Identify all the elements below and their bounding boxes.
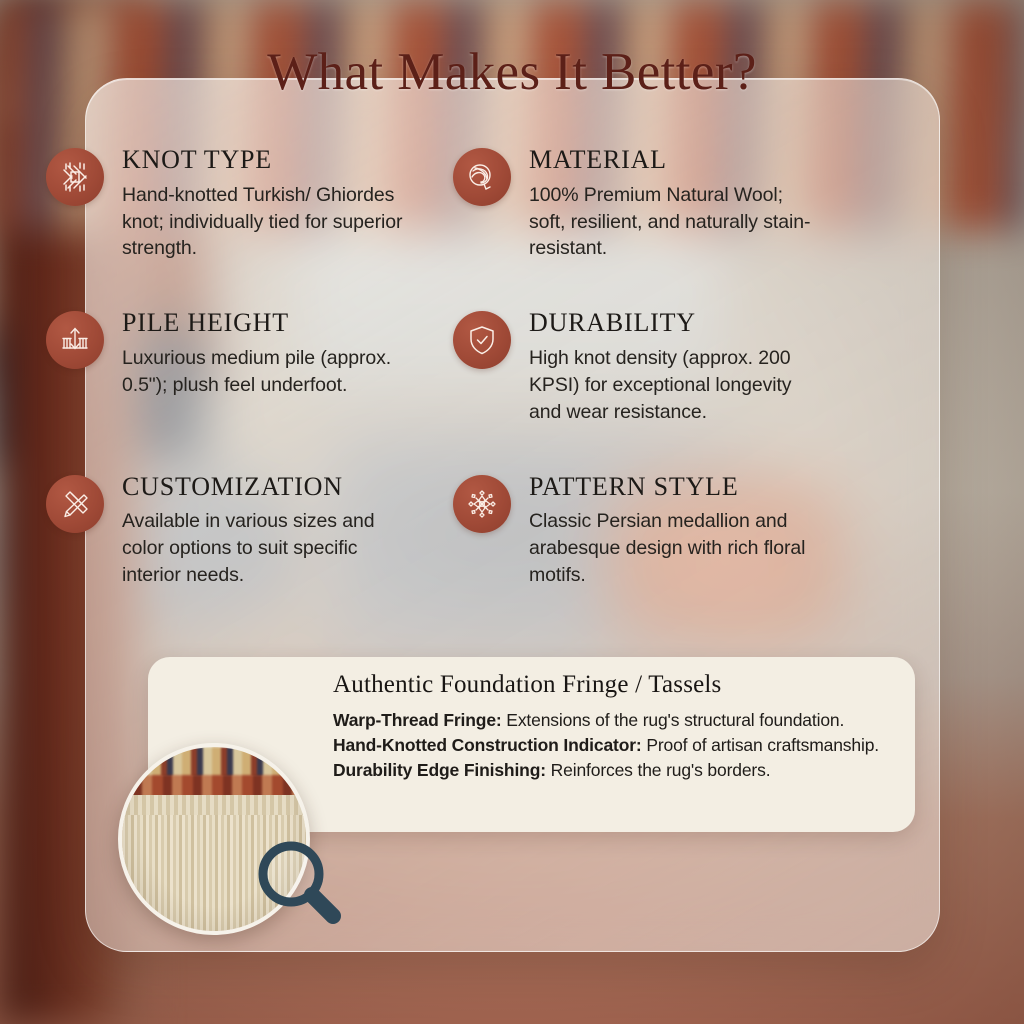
feature-body: Available in various sizes and color opt… <box>122 508 409 589</box>
feature-heading: CUSTOMIZATION <box>122 473 409 502</box>
feature-knot-type[interactable]: KNOT TYPE Hand-knotted Turkish/ Ghiordes… <box>46 145 409 262</box>
fringe-bullet-text: Reinforces the rug's borders. <box>546 760 771 780</box>
feature-pattern-style[interactable]: PATTERN STYLE Classic Persian medallion … <box>453 472 816 589</box>
feature-heading: PILE HEIGHT <box>122 309 409 338</box>
fringe-bullet: Warp-Thread Fringe: Extensions of the ru… <box>333 708 897 733</box>
feature-material[interactable]: MATERIAL 100% Premium Natural Wool; soft… <box>453 145 816 262</box>
feature-body: Luxurious medium pile (approx. 0.5"); pl… <box>122 345 409 399</box>
pile-height-arrow-icon <box>46 311 104 369</box>
magnifying-glass-icon <box>253 836 345 928</box>
feature-body: High knot density (approx. 200 KPSI) for… <box>529 345 816 426</box>
fringe-bullet: Durability Edge Finishing: Reinforces th… <box>333 758 897 783</box>
fringe-bullet-label: Warp-Thread Fringe: <box>333 710 502 730</box>
knot-weave-icon <box>46 148 104 206</box>
fringe-text-block: Authentic Foundation Fringe / Tassels Wa… <box>333 671 897 783</box>
feature-body: Classic Persian medallion and arabesque … <box>529 508 816 589</box>
ruler-pencil-icon <box>46 475 104 533</box>
feature-heading: MATERIAL <box>529 146 816 175</box>
fringe-bullet-text: Extensions of the rug's structural found… <box>502 710 845 730</box>
fringe-bullet-text: Proof of artisan craftsmanship. <box>642 735 879 755</box>
fringe-bullet-label: Hand-Knotted Construction Indicator: <box>333 735 642 755</box>
feature-customization[interactable]: CUSTOMIZATION Available in various sizes… <box>46 472 409 589</box>
fringe-bullet-label: Durability Edge Finishing: <box>333 760 546 780</box>
feature-heading: DURABILITY <box>529 309 816 338</box>
fringe-panel-title: Authentic Foundation Fringe / Tassels <box>333 671 897 699</box>
feature-heading: KNOT TYPE <box>122 146 409 175</box>
shield-check-icon <box>453 311 511 369</box>
page-title: What Makes It Better? <box>0 42 1024 102</box>
feature-grid: KNOT TYPE Hand-knotted Turkish/ Ghiordes… <box>46 145 816 589</box>
fringe-bullet: Hand-Knotted Construction Indicator: Pro… <box>333 733 897 758</box>
feature-heading: PATTERN STYLE <box>529 473 816 502</box>
feature-body: Hand-knotted Turkish/ Ghiordes knot; ind… <box>122 182 409 263</box>
feature-durability[interactable]: DURABILITY High knot density (approx. 20… <box>453 308 816 425</box>
feature-body: 100% Premium Natural Wool; soft, resilie… <box>529 182 816 263</box>
wool-yarn-ball-icon <box>453 148 511 206</box>
feature-pile-height[interactable]: PILE HEIGHT Luxurious medium pile (appro… <box>46 308 409 425</box>
infographic-stage: What Makes It Better? KNOT TYPE Hand-kno… <box>0 0 1024 1024</box>
medallion-rosette-icon <box>453 475 511 533</box>
